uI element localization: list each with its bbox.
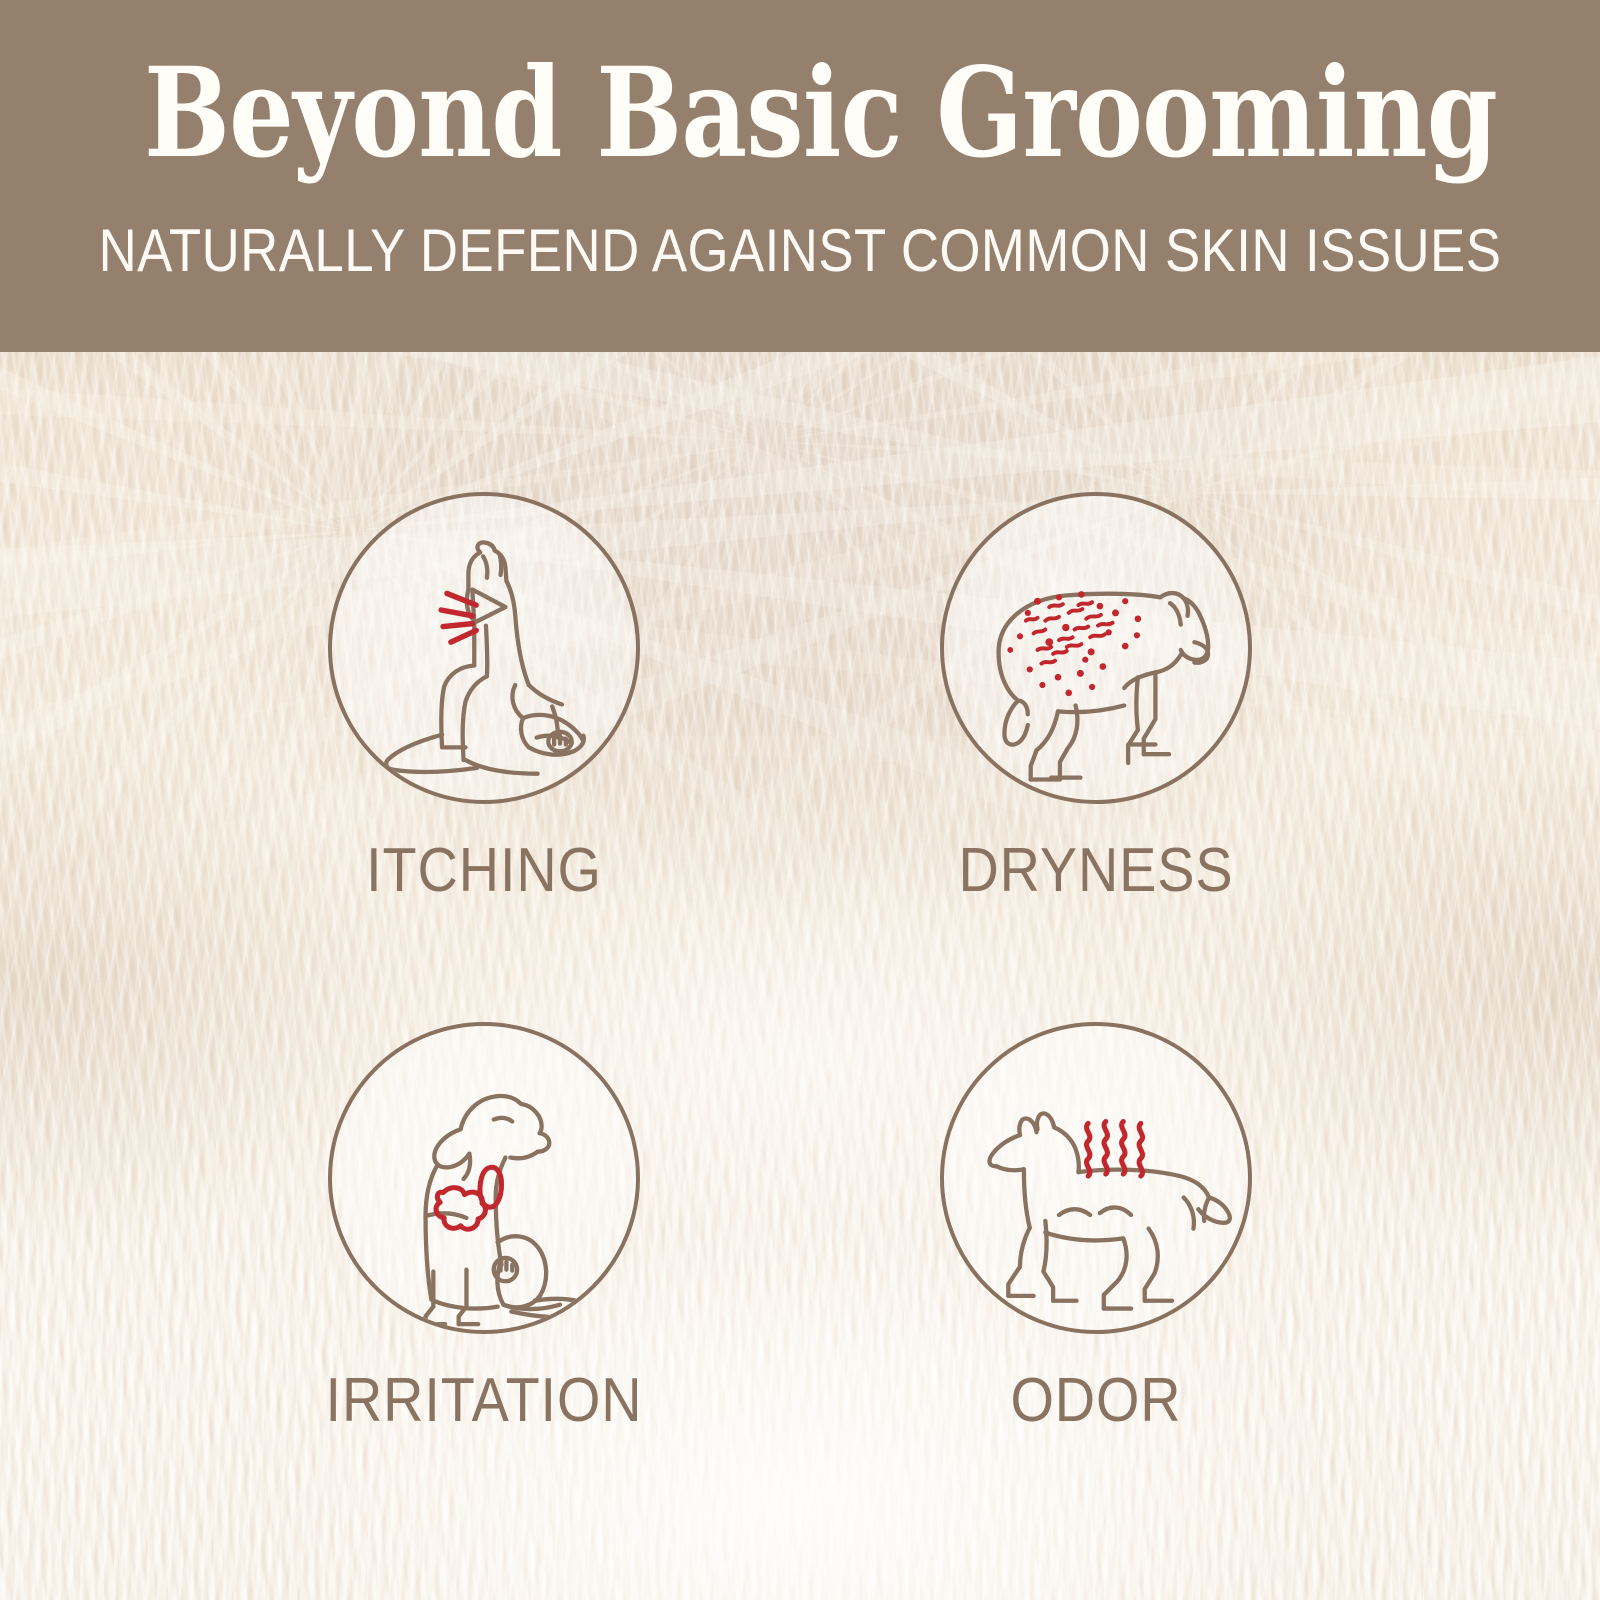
- header-banner: Beyond Basic Grooming NATURALLY DEFEND A…: [0, 0, 1600, 352]
- dog-flaky-skin-icon: [940, 492, 1252, 804]
- skin-issues-grid: ITCHING: [0, 352, 1600, 1600]
- issue-label-odor: ODOR: [889, 1370, 1303, 1432]
- issue-label-dryness: DRYNESS: [889, 840, 1303, 902]
- page-title: Beyond Basic Grooming: [144, 52, 1456, 176]
- issue-card-irritation: IRRITATION: [254, 1022, 714, 1432]
- dog-scratching-icon: [328, 492, 640, 804]
- dog-irritated-patch-icon: [328, 1022, 640, 1334]
- poster-canvas: Beyond Basic Grooming NATURALLY DEFEND A…: [0, 0, 1600, 1600]
- dog-odor-icon: [940, 1022, 1252, 1334]
- issue-card-dryness: DRYNESS: [866, 492, 1326, 902]
- issue-card-odor: ODOR: [866, 1022, 1326, 1432]
- issue-card-itching: ITCHING: [254, 492, 714, 902]
- issue-label-itching: ITCHING: [277, 840, 691, 902]
- issue-label-irritation: IRRITATION: [277, 1370, 691, 1432]
- page-subtitle: NATURALLY DEFEND AGAINST COMMON SKIN ISS…: [96, 216, 1504, 285]
